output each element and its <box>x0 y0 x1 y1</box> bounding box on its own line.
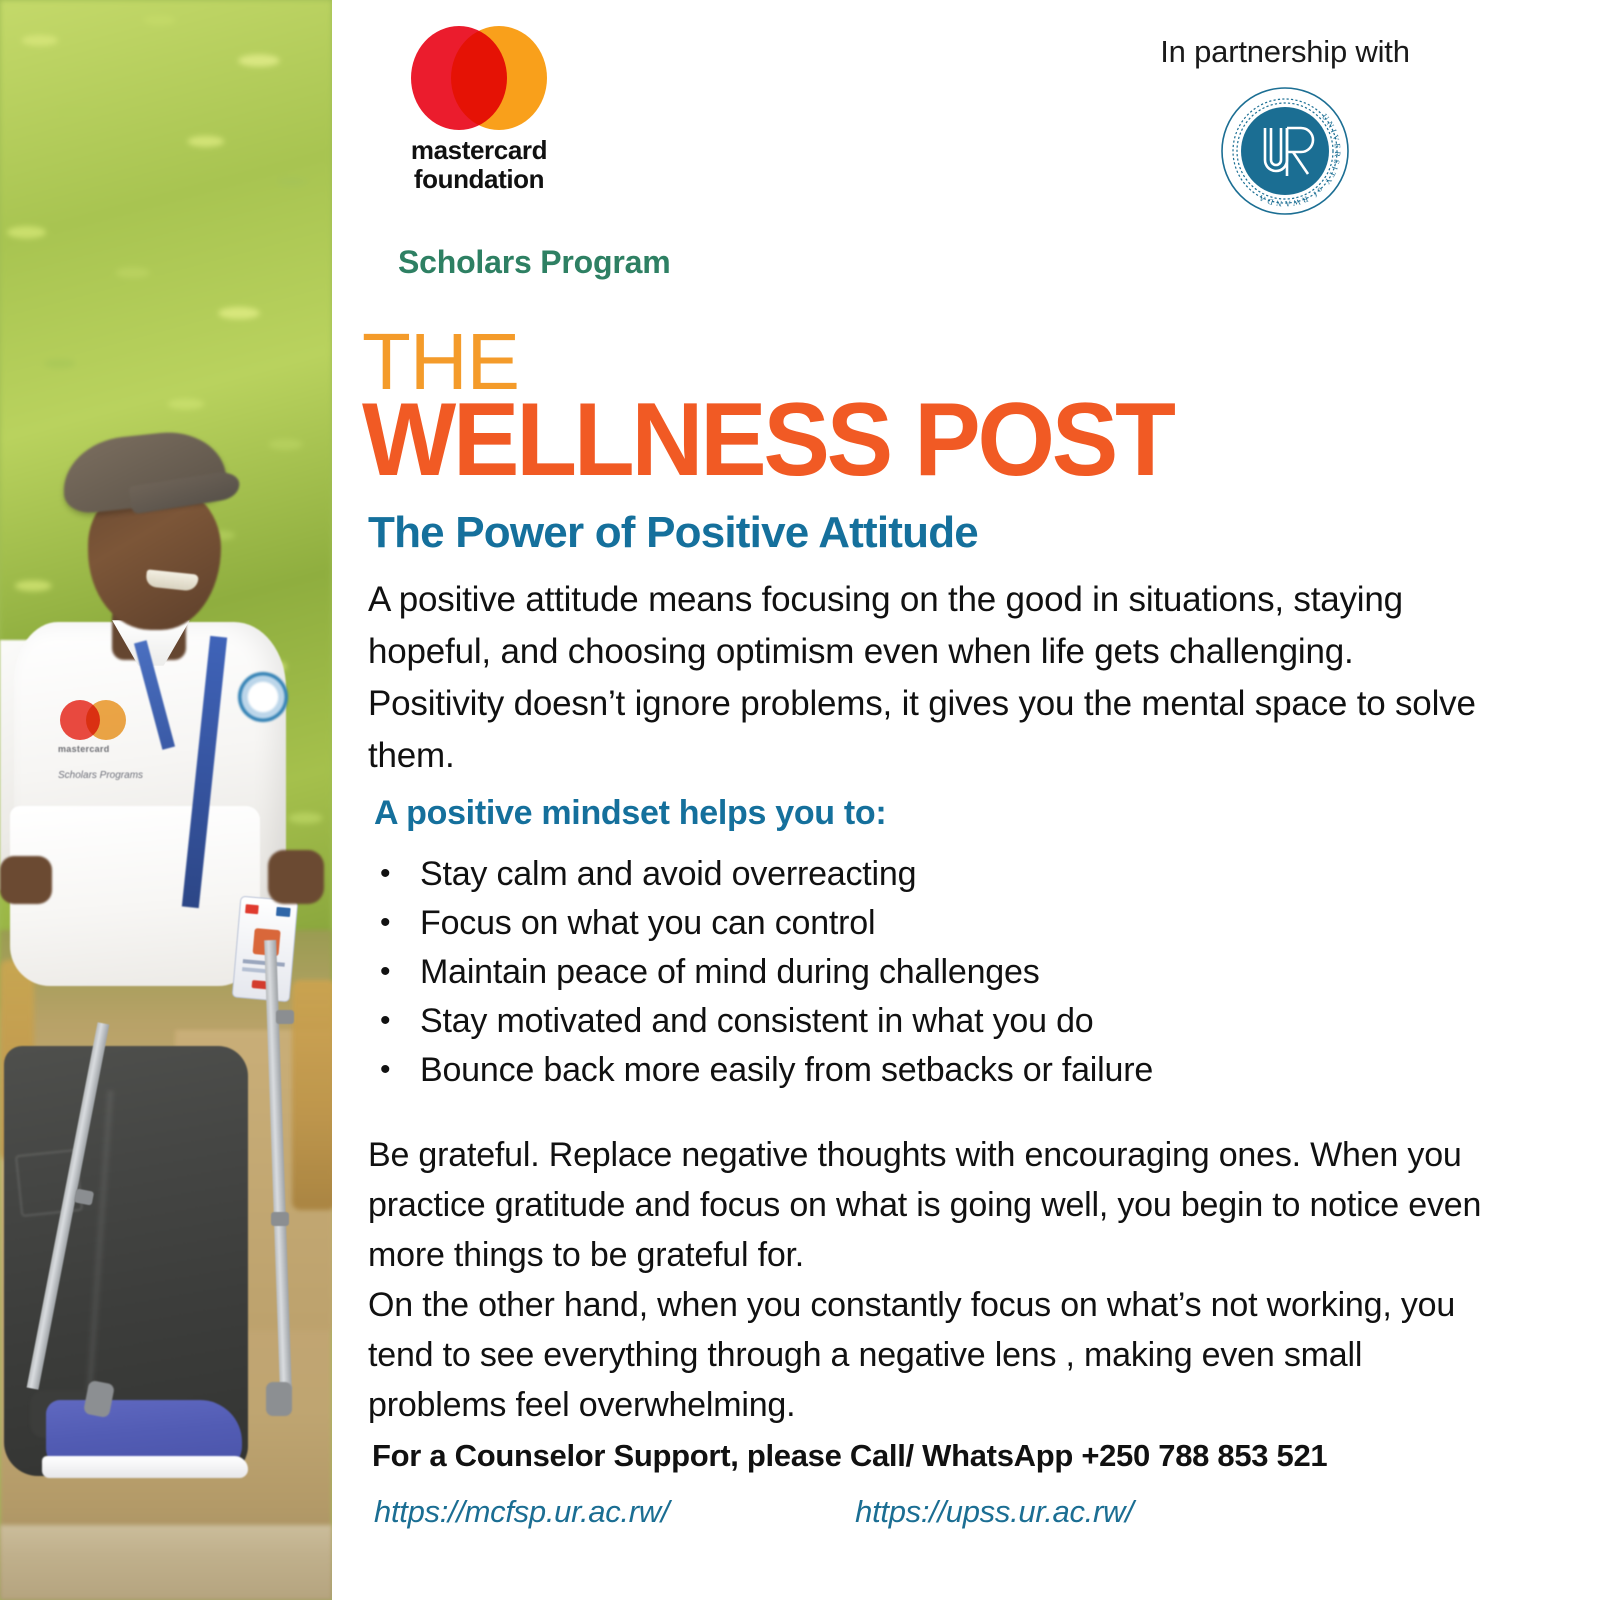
crutch-right <box>264 940 292 1390</box>
shirt-logo-subline: Scholars Programs <box>58 770 178 781</box>
mastercard-wordmark-line2: foundation <box>399 165 559 194</box>
crutch-clamp-b <box>271 1212 289 1226</box>
person-figure: mastercard Scholars Programs <box>0 0 332 1600</box>
mastercard-circles-icon <box>405 26 553 130</box>
mastercard-wordmark-line1: mastercard <box>399 136 559 165</box>
shirt-mastercard-logo-icon <box>60 700 126 740</box>
bullet-list-heading: A positive mindset helps you to: <box>374 792 886 834</box>
list-item: Stay calm and avoid overreacting <box>368 850 1468 899</box>
scholar-photo: mastercard Scholars Programs <box>0 0 332 1600</box>
university-of-rwanda-seal-icon: UNIVERSITY of RWANDA <box>1218 84 1352 218</box>
partnership-label: In partnership with <box>1120 34 1450 70</box>
shoe-sole <box>42 1456 248 1478</box>
left-hand <box>0 856 52 904</box>
footer-links: https://mcfsp.ur.ac.rw/ https://upss.ur.… <box>374 1494 1424 1530</box>
mastercard-wordmark: mastercard foundation <box>399 136 559 194</box>
scholars-program-label: Scholars Program <box>398 244 670 281</box>
link-mcfsp[interactable]: https://mcfsp.ur.ac.rw/ <box>374 1494 669 1530</box>
right-hand <box>268 850 324 904</box>
title-line-wellness-post: WELLNESS POST <box>362 388 1173 492</box>
article-subtitle: The Power of Positive Attitude <box>368 508 978 558</box>
list-item: Maintain peace of mind during challenges <box>368 948 1468 997</box>
closing-paragraph-2: On the other hand, when you constantly f… <box>368 1280 1488 1430</box>
link-upss[interactable]: https://upss.ur.ac.rw/ <box>855 1494 1133 1530</box>
bystander-right <box>292 980 332 1210</box>
benefits-list: Stay calm and avoid overreacting Focus o… <box>368 850 1468 1095</box>
intro-paragraph: A positive attitude means focusing on th… <box>368 574 1478 782</box>
crutch-tip-right <box>266 1382 292 1416</box>
list-item: Stay motivated and consistent in what yo… <box>368 997 1468 1046</box>
crutch-clamp-c <box>276 1010 294 1024</box>
list-item: Bounce back more easily from setbacks or… <box>368 1046 1468 1095</box>
closing-paragraph-1: Be grateful. Replace negative thoughts w… <box>368 1130 1488 1280</box>
partnership-block: In partnership with UNIVERSITY of RWANDA <box>1120 34 1450 218</box>
counselor-support-line: For a Counselor Support, please Call/ Wh… <box>372 1438 1327 1474</box>
mastercard-foundation-logo: mastercard foundation <box>399 26 559 194</box>
ur-shirt-patch-icon <box>238 672 288 722</box>
list-item: Focus on what you can control <box>368 899 1468 948</box>
poster-header: mastercard foundation In partnership wit… <box>332 0 1600 230</box>
content-column: mastercard foundation In partnership wit… <box>332 0 1600 1600</box>
wellness-post-poster: mastercard Scholars Programs <box>0 0 1600 1600</box>
shirt-logo-wordmark: mastercard <box>58 744 168 754</box>
closing-paragraphs: Be grateful. Replace negative thoughts w… <box>368 1130 1488 1430</box>
